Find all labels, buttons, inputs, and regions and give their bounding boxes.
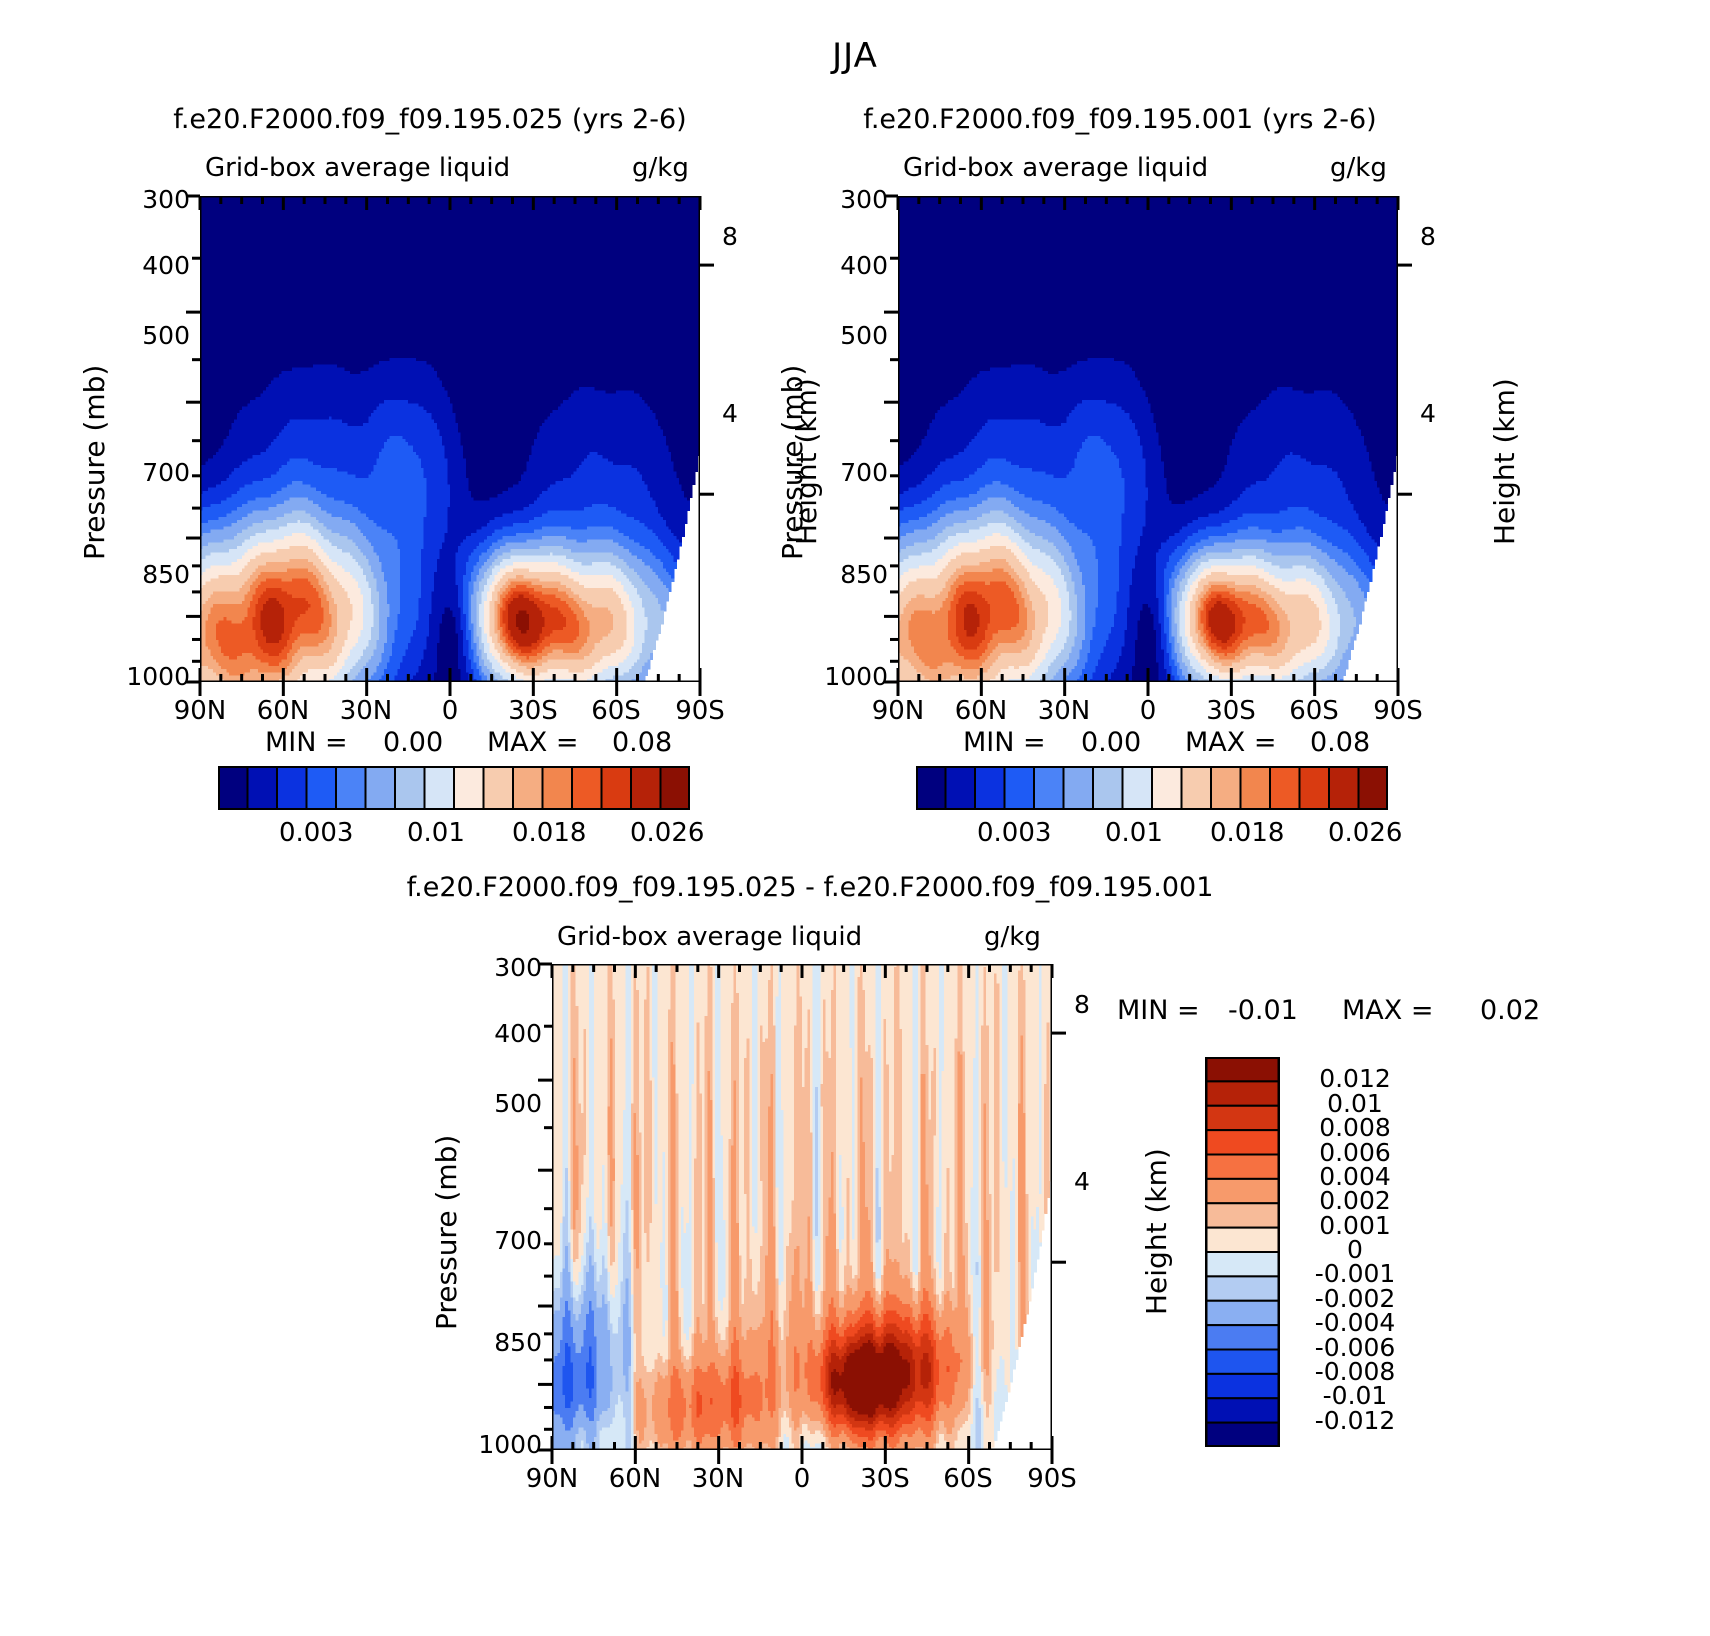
panel-title: f.e20.F2000.f09_f09.195.025 - f.e20.F200… xyxy=(0,872,1620,903)
legend-colorbar-difference xyxy=(1205,1057,1280,1447)
xtick-30N: 30N xyxy=(678,1464,758,1494)
xtick-90S: 90S xyxy=(660,696,740,726)
xtick-30S: 30S xyxy=(845,1464,925,1494)
xtick-0: 0 xyxy=(410,696,490,726)
ytick-1000: 1000 xyxy=(452,1430,542,1459)
colorbar-tick-001: 0.01 xyxy=(1105,818,1163,848)
min-value: 0.00 xyxy=(383,727,443,758)
xtick-60N: 60N xyxy=(941,696,1021,726)
max-value: 0.08 xyxy=(612,727,672,758)
colorbar-tick-0026: 0.026 xyxy=(630,818,704,848)
max-value: 0.08 xyxy=(1310,727,1370,758)
xtick-60N: 60N xyxy=(243,696,323,726)
season-title: JJA xyxy=(0,36,1710,76)
xtick-0: 0 xyxy=(1108,696,1188,726)
height-axis-label: Height (km) xyxy=(1140,1148,1173,1315)
ytick-1000: 1000 xyxy=(798,662,888,691)
colorbar-tick-0003: 0.003 xyxy=(977,818,1051,848)
ytick-850: 850 xyxy=(808,560,888,589)
xtick-60S: 60S xyxy=(928,1464,1008,1494)
ytick-500: 500 xyxy=(462,1089,542,1118)
pressure-axis-label: Pressure (mb) xyxy=(430,1135,463,1330)
xtick-0: 0 xyxy=(762,1464,842,1494)
ytick-500: 500 xyxy=(808,321,888,350)
pressure-axis-label: Pressure (mb) xyxy=(776,365,809,560)
axes-ticks-case-025 xyxy=(180,176,740,716)
ytick-1000: 1000 xyxy=(100,662,190,691)
ytick-500: 500 xyxy=(110,321,190,350)
max-label: MAX = xyxy=(487,727,578,758)
max-label: MAX = xyxy=(1342,995,1433,1026)
ytick-700: 700 xyxy=(110,458,190,487)
ytick-300: 300 xyxy=(110,185,190,214)
xtick-90N: 90N xyxy=(512,1464,592,1494)
colorbar-tick-0018: 0.018 xyxy=(512,818,586,848)
xtick-90S: 90S xyxy=(1358,696,1438,726)
xtick-60N: 60N xyxy=(595,1464,675,1494)
min-label: MIN = xyxy=(265,727,348,758)
xtick-60S: 60S xyxy=(1274,696,1354,726)
ytick-700: 700 xyxy=(808,458,888,487)
xtick-30N: 30N xyxy=(1024,696,1104,726)
colorbar-case-001 xyxy=(916,766,1388,810)
ytick-850: 850 xyxy=(110,560,190,589)
colorbar-case-025 xyxy=(218,766,690,810)
xtick-30S: 30S xyxy=(1191,696,1271,726)
height-axis-label: Height (km) xyxy=(1488,378,1521,545)
ytick-400: 400 xyxy=(110,251,190,280)
xtick-30N: 30N xyxy=(326,696,406,726)
max-label: MAX = xyxy=(1185,727,1276,758)
min-label: MIN = xyxy=(1117,995,1200,1026)
colorbar-tick-0026: 0.026 xyxy=(1328,818,1402,848)
ytick-400: 400 xyxy=(462,1019,542,1048)
axes-ticks-difference xyxy=(532,944,1092,1484)
xtick-60S: 60S xyxy=(576,696,656,726)
pressure-axis-label: Pressure (mb) xyxy=(78,365,111,560)
colorbar-tick-0018: 0.018 xyxy=(1210,818,1284,848)
ytick-300: 300 xyxy=(808,185,888,214)
ytick-850: 850 xyxy=(462,1328,542,1357)
min-value: 0.00 xyxy=(1081,727,1141,758)
ytick-700: 700 xyxy=(462,1226,542,1255)
axes-ticks-case-001 xyxy=(878,176,1438,716)
colorbar-tick-001: 0.01 xyxy=(407,818,465,848)
min-label: MIN = xyxy=(963,727,1046,758)
ytick-400: 400 xyxy=(808,251,888,280)
min-value: -0.01 xyxy=(1228,995,1298,1026)
ytick-300: 300 xyxy=(462,953,542,982)
xtick-30S: 30S xyxy=(493,696,573,726)
legend-label-14: -0.012 xyxy=(1290,1406,1420,1435)
colorbar-tick-0003: 0.003 xyxy=(279,818,353,848)
xtick-90N: 90N xyxy=(858,696,938,726)
panel-title: f.e20.F2000.f09_f09.195.001 (yrs 2-6) xyxy=(690,104,1550,135)
xtick-90S: 90S xyxy=(1012,1464,1092,1494)
xtick-90N: 90N xyxy=(160,696,240,726)
max-value: 0.02 xyxy=(1480,995,1540,1026)
